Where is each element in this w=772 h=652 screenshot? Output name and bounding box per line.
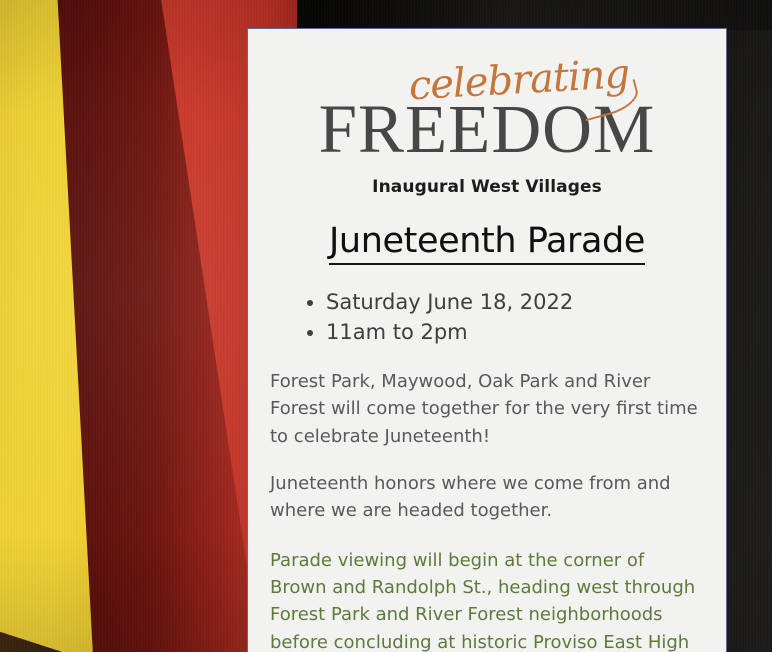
- list-item: 11am to 2pm: [326, 317, 704, 347]
- flyer-content: celebrating FREEDOM Inaugural West Villa…: [248, 29, 726, 652]
- paragraph-route: Parade viewing will begin at the corner …: [270, 547, 704, 652]
- event-facts-list: Saturday June 18, 2022 11am to 2pm: [270, 287, 704, 348]
- flyer-card: celebrating FREEDOM Inaugural West Villa…: [247, 28, 727, 652]
- freedom-logo: celebrating FREEDOM: [270, 53, 704, 173]
- list-item: Saturday June 18, 2022: [326, 287, 704, 317]
- poster-screenshot: celebrating FREEDOM Inaugural West Villa…: [0, 0, 772, 652]
- flyer-subtitle: Inaugural West Villages: [270, 177, 704, 197]
- flyer-title-text: Juneteenth Parade: [329, 221, 645, 265]
- flyer-title: Juneteenth Parade: [270, 221, 704, 261]
- paragraph-communities: Forest Park, Maywood, Oak Park and River…: [270, 368, 704, 450]
- paragraph-honors: Juneteenth honors where we come from and…: [270, 470, 704, 525]
